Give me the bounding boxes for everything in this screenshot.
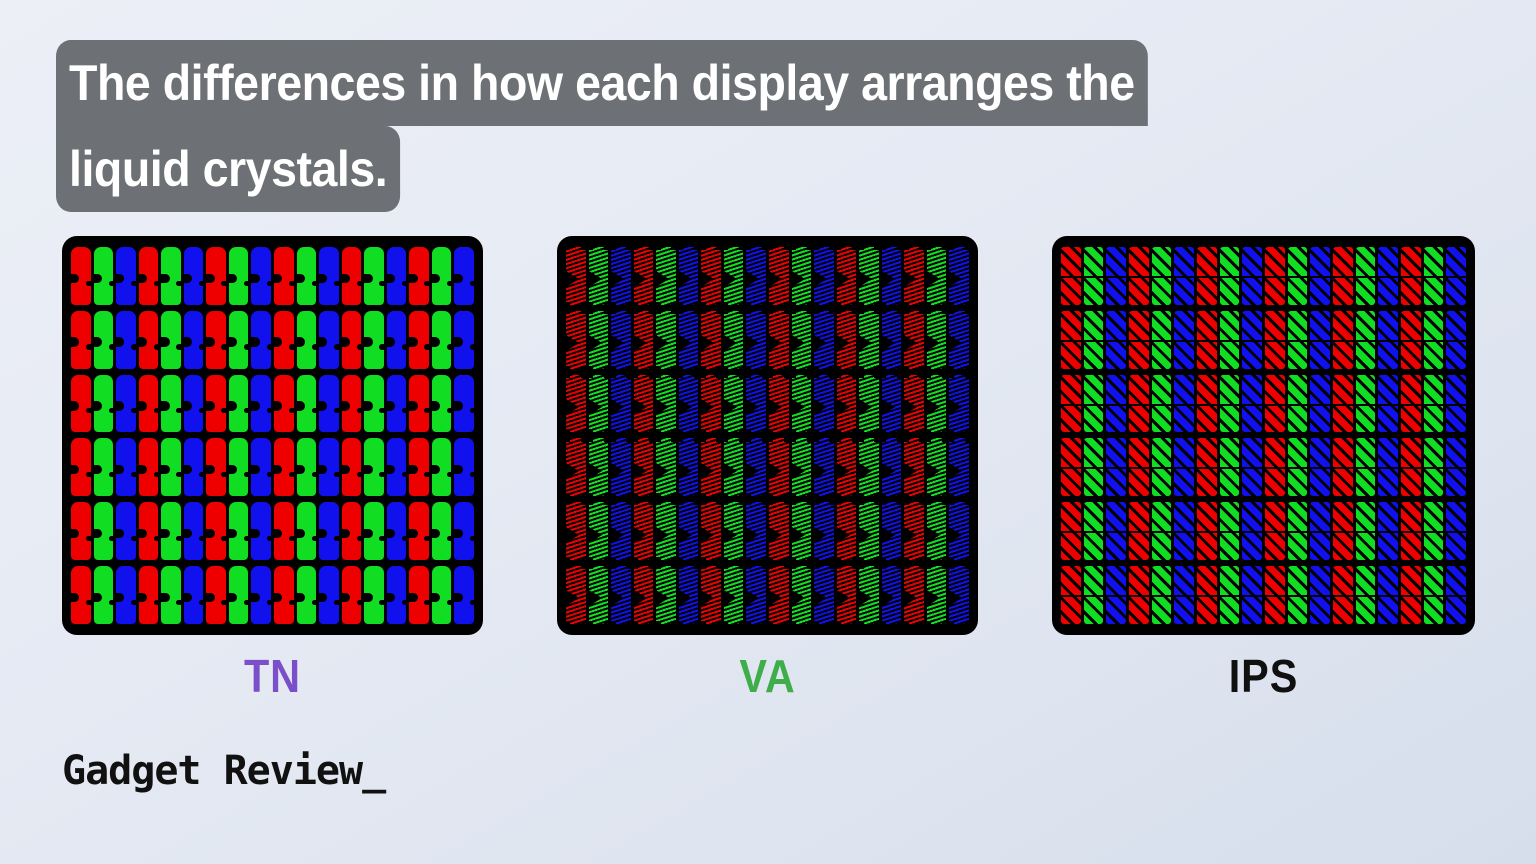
subpixel bbox=[882, 566, 902, 624]
subpixel bbox=[814, 438, 834, 496]
subpixel bbox=[1084, 566, 1104, 624]
subpixel bbox=[792, 375, 812, 433]
subpixel bbox=[927, 438, 947, 496]
subpixel bbox=[251, 375, 271, 433]
subpixel bbox=[274, 375, 294, 433]
subpixel bbox=[184, 502, 204, 560]
panel-label-va: VA bbox=[578, 649, 957, 703]
subpixel bbox=[116, 438, 136, 496]
subpixel bbox=[814, 502, 834, 560]
subpixel bbox=[387, 375, 407, 433]
subpixel bbox=[904, 502, 924, 560]
subpixel bbox=[251, 566, 271, 624]
subpixel bbox=[297, 566, 317, 624]
subpixel bbox=[251, 502, 271, 560]
subpixel bbox=[724, 375, 744, 433]
subpixel bbox=[364, 311, 384, 369]
panel-group-ips: IPS bbox=[1052, 236, 1475, 703]
subpixel bbox=[1106, 438, 1126, 496]
subpixel bbox=[297, 311, 317, 369]
subpixel bbox=[432, 247, 452, 305]
subpixel bbox=[342, 502, 362, 560]
subpixel bbox=[949, 566, 969, 624]
subpixel bbox=[1446, 438, 1466, 496]
subpixel bbox=[1220, 375, 1240, 433]
subpixel bbox=[1310, 438, 1330, 496]
subpixel bbox=[387, 566, 407, 624]
display-panel-tn bbox=[62, 236, 483, 635]
subpixel bbox=[724, 311, 744, 369]
subpixel bbox=[1288, 566, 1308, 624]
subpixel bbox=[792, 502, 812, 560]
subpixel bbox=[859, 311, 879, 369]
subpixel bbox=[1152, 311, 1172, 369]
subpixel bbox=[1356, 566, 1376, 624]
subpixel bbox=[297, 247, 317, 305]
subpixel bbox=[566, 311, 586, 369]
subpixel bbox=[701, 438, 721, 496]
pixel-grid-va bbox=[566, 247, 969, 624]
subpixel bbox=[1220, 247, 1240, 305]
subpixel bbox=[229, 247, 249, 305]
subpixel bbox=[1152, 247, 1172, 305]
subpixel bbox=[1265, 247, 1285, 305]
subpixel bbox=[454, 375, 474, 433]
subpixel bbox=[116, 247, 136, 305]
subpixel bbox=[1152, 375, 1172, 433]
subpixel bbox=[724, 566, 744, 624]
subpixel bbox=[1333, 566, 1353, 624]
subpixel bbox=[1446, 375, 1466, 433]
subpixel bbox=[274, 247, 294, 305]
subpixel bbox=[656, 375, 676, 433]
display-panel-va bbox=[557, 236, 978, 635]
subpixel bbox=[184, 247, 204, 305]
subpixel bbox=[1288, 311, 1308, 369]
subpixel bbox=[116, 566, 136, 624]
subpixel bbox=[1174, 566, 1194, 624]
subpixel bbox=[297, 375, 317, 433]
subpixel bbox=[342, 566, 362, 624]
subpixel bbox=[1265, 438, 1285, 496]
subpixel bbox=[1152, 566, 1172, 624]
subpixel bbox=[342, 375, 362, 433]
subpixel bbox=[724, 438, 744, 496]
subpixel bbox=[589, 311, 609, 369]
subpixel bbox=[454, 566, 474, 624]
subpixel bbox=[859, 502, 879, 560]
subpixel bbox=[1424, 502, 1444, 560]
subpixel bbox=[859, 247, 879, 305]
subpixel bbox=[184, 311, 204, 369]
subpixel bbox=[679, 375, 699, 433]
subpixel bbox=[409, 311, 429, 369]
subpixel bbox=[1333, 438, 1353, 496]
subpixel bbox=[792, 566, 812, 624]
subpixel bbox=[927, 311, 947, 369]
subpixel bbox=[566, 375, 586, 433]
subpixel bbox=[94, 311, 114, 369]
subpixel bbox=[837, 375, 857, 433]
subpixel bbox=[364, 438, 384, 496]
subpixel bbox=[251, 247, 271, 305]
subpixel bbox=[746, 438, 766, 496]
subpixel bbox=[949, 438, 969, 496]
subpixel bbox=[792, 247, 812, 305]
subpixel bbox=[611, 502, 631, 560]
subpixel bbox=[206, 438, 226, 496]
subpixel bbox=[1084, 311, 1104, 369]
subpixel bbox=[634, 375, 654, 433]
subpixel bbox=[1174, 438, 1194, 496]
subpixel bbox=[1310, 247, 1330, 305]
subpixel bbox=[1242, 502, 1262, 560]
subpixel bbox=[139, 438, 159, 496]
subpixel bbox=[634, 247, 654, 305]
subpixel bbox=[1220, 311, 1240, 369]
subpixel bbox=[319, 375, 339, 433]
subpixel bbox=[432, 502, 452, 560]
subpixel bbox=[1106, 566, 1126, 624]
subpixel bbox=[387, 311, 407, 369]
subpixel bbox=[1084, 502, 1104, 560]
subpixel bbox=[927, 566, 947, 624]
subpixel bbox=[927, 502, 947, 560]
subpixel bbox=[1401, 311, 1421, 369]
subpixel bbox=[1310, 375, 1330, 433]
subpixel bbox=[139, 247, 159, 305]
subpixel bbox=[1197, 438, 1217, 496]
subpixel bbox=[1265, 375, 1285, 433]
subpixel bbox=[274, 502, 294, 560]
subpixel bbox=[409, 247, 429, 305]
subpixel bbox=[1220, 438, 1240, 496]
subpixel bbox=[1197, 311, 1217, 369]
watermark-gadget-review: Gadget Review_ bbox=[62, 748, 385, 794]
subpixel bbox=[1265, 502, 1285, 560]
subpixel bbox=[454, 502, 474, 560]
subpixel bbox=[701, 375, 721, 433]
subpixel bbox=[319, 502, 339, 560]
subpixel bbox=[1084, 375, 1104, 433]
subpixel bbox=[161, 375, 181, 433]
subpixel bbox=[206, 247, 226, 305]
subpixel bbox=[1424, 311, 1444, 369]
subpixel bbox=[342, 438, 362, 496]
subpixel bbox=[1333, 247, 1353, 305]
subpixel bbox=[1129, 566, 1149, 624]
subpixel bbox=[387, 502, 407, 560]
subpixel bbox=[566, 438, 586, 496]
subpixel bbox=[1401, 566, 1421, 624]
subpixel bbox=[1446, 247, 1466, 305]
pixel-grid-ips bbox=[1061, 247, 1466, 624]
subpixel bbox=[71, 566, 91, 624]
subpixel bbox=[701, 311, 721, 369]
subpixel bbox=[769, 438, 789, 496]
subpixel bbox=[364, 502, 384, 560]
subpixel bbox=[769, 502, 789, 560]
subpixel bbox=[1061, 375, 1081, 433]
subpixel bbox=[1061, 247, 1081, 305]
subpixel bbox=[769, 566, 789, 624]
subpixel bbox=[1401, 247, 1421, 305]
subpixel bbox=[1378, 247, 1398, 305]
title-line-2: liquid crystals. bbox=[56, 126, 400, 212]
subpixel bbox=[1242, 247, 1262, 305]
panel-group-va: VA bbox=[557, 236, 978, 703]
subpixel bbox=[1084, 247, 1104, 305]
subpixel bbox=[904, 375, 924, 433]
subpixel bbox=[949, 311, 969, 369]
subpixel bbox=[71, 247, 91, 305]
subpixel bbox=[1106, 311, 1126, 369]
subpixel bbox=[746, 502, 766, 560]
subpixel bbox=[161, 247, 181, 305]
panel-group-tn: TN bbox=[62, 236, 483, 703]
subpixel bbox=[611, 247, 631, 305]
subpixel bbox=[1356, 247, 1376, 305]
subpixel bbox=[1401, 438, 1421, 496]
subpixel bbox=[184, 438, 204, 496]
subpixel bbox=[1106, 375, 1126, 433]
subpixel bbox=[71, 502, 91, 560]
subpixel bbox=[1424, 375, 1444, 433]
subpixel bbox=[206, 311, 226, 369]
subpixel bbox=[161, 502, 181, 560]
subpixel bbox=[634, 502, 654, 560]
subpixel bbox=[1197, 375, 1217, 433]
subpixel bbox=[656, 247, 676, 305]
subpixel bbox=[139, 375, 159, 433]
subpixel bbox=[1197, 502, 1217, 560]
subpixel bbox=[184, 566, 204, 624]
subpixel bbox=[206, 566, 226, 624]
subpixel bbox=[1310, 311, 1330, 369]
subpixel bbox=[949, 502, 969, 560]
subpixel bbox=[1129, 375, 1149, 433]
subpixel bbox=[566, 566, 586, 624]
subpixel bbox=[1356, 375, 1376, 433]
subpixel bbox=[229, 438, 249, 496]
subpixel bbox=[589, 438, 609, 496]
subpixel bbox=[679, 247, 699, 305]
subpixel bbox=[1061, 438, 1081, 496]
subpixel bbox=[634, 311, 654, 369]
subpixel bbox=[1174, 311, 1194, 369]
subpixel bbox=[297, 438, 317, 496]
subpixel bbox=[746, 566, 766, 624]
subpixel bbox=[1129, 502, 1149, 560]
subpixel bbox=[229, 502, 249, 560]
subpixel bbox=[769, 247, 789, 305]
subpixel bbox=[566, 247, 586, 305]
subpixel bbox=[1174, 247, 1194, 305]
pixel-grid-tn bbox=[71, 247, 474, 624]
subpixel bbox=[746, 375, 766, 433]
subpixel bbox=[229, 311, 249, 369]
subpixel bbox=[274, 566, 294, 624]
subpixel bbox=[409, 502, 429, 560]
subpixel bbox=[94, 502, 114, 560]
subpixel bbox=[656, 502, 676, 560]
subpixel bbox=[679, 438, 699, 496]
subpixel bbox=[94, 566, 114, 624]
subpixel bbox=[1446, 566, 1466, 624]
subpixel bbox=[139, 566, 159, 624]
subpixel bbox=[1378, 438, 1398, 496]
panel-comparison-row: TN VA IPS bbox=[0, 236, 1536, 636]
subpixel bbox=[859, 566, 879, 624]
subpixel bbox=[454, 311, 474, 369]
subpixel bbox=[71, 311, 91, 369]
subpixel bbox=[1356, 311, 1376, 369]
subpixel bbox=[837, 311, 857, 369]
subpixel bbox=[454, 438, 474, 496]
subpixel bbox=[679, 566, 699, 624]
subpixel bbox=[432, 438, 452, 496]
subpixel bbox=[792, 311, 812, 369]
subpixel bbox=[206, 502, 226, 560]
subpixel bbox=[1220, 566, 1240, 624]
subpixel bbox=[611, 438, 631, 496]
subpixel bbox=[319, 438, 339, 496]
subpixel bbox=[656, 566, 676, 624]
subpixel bbox=[139, 502, 159, 560]
subpixel bbox=[1174, 375, 1194, 433]
subpixel bbox=[319, 311, 339, 369]
subpixel bbox=[1129, 438, 1149, 496]
subpixel bbox=[229, 375, 249, 433]
subpixel bbox=[589, 247, 609, 305]
subpixel bbox=[409, 438, 429, 496]
subpixel bbox=[1401, 502, 1421, 560]
subpixel bbox=[1106, 502, 1126, 560]
subpixel bbox=[1061, 311, 1081, 369]
subpixel bbox=[814, 375, 834, 433]
subpixel bbox=[837, 247, 857, 305]
subpixel bbox=[71, 375, 91, 433]
subpixel bbox=[1197, 566, 1217, 624]
subpixel bbox=[634, 566, 654, 624]
subpixel bbox=[432, 375, 452, 433]
subpixel bbox=[837, 502, 857, 560]
subpixel bbox=[882, 247, 902, 305]
subpixel bbox=[611, 375, 631, 433]
subpixel bbox=[724, 247, 744, 305]
subpixel bbox=[94, 375, 114, 433]
subpixel bbox=[161, 311, 181, 369]
subpixel bbox=[746, 311, 766, 369]
subpixel bbox=[1378, 566, 1398, 624]
subpixel bbox=[837, 438, 857, 496]
subpixel bbox=[1424, 566, 1444, 624]
subpixel bbox=[274, 311, 294, 369]
subpixel bbox=[1106, 247, 1126, 305]
subpixel bbox=[139, 311, 159, 369]
subpixel bbox=[116, 311, 136, 369]
subpixel bbox=[161, 438, 181, 496]
subpixel bbox=[634, 438, 654, 496]
subpixel bbox=[251, 438, 271, 496]
subpixel bbox=[904, 247, 924, 305]
subpixel bbox=[792, 438, 812, 496]
subpixel bbox=[364, 247, 384, 305]
subpixel bbox=[297, 502, 317, 560]
subpixel bbox=[859, 438, 879, 496]
subpixel bbox=[611, 311, 631, 369]
subpixel bbox=[904, 566, 924, 624]
subpixel bbox=[1242, 438, 1262, 496]
subpixel bbox=[1265, 311, 1285, 369]
subpixel bbox=[1378, 311, 1398, 369]
subpixel bbox=[904, 311, 924, 369]
subpixel bbox=[387, 247, 407, 305]
subpixel bbox=[432, 311, 452, 369]
subpixel bbox=[1242, 375, 1262, 433]
subpixel bbox=[566, 502, 586, 560]
subpixel bbox=[701, 566, 721, 624]
subpixel bbox=[1310, 502, 1330, 560]
subpixel bbox=[1333, 502, 1353, 560]
subpixel bbox=[71, 438, 91, 496]
subpixel bbox=[116, 502, 136, 560]
subpixel bbox=[1152, 502, 1172, 560]
subpixel bbox=[1174, 502, 1194, 560]
subpixel bbox=[432, 566, 452, 624]
display-panel-ips bbox=[1052, 236, 1475, 635]
subpixel bbox=[1378, 375, 1398, 433]
subpixel bbox=[387, 438, 407, 496]
subpixel bbox=[882, 311, 902, 369]
panel-label-ips: IPS bbox=[1073, 649, 1454, 703]
subpixel bbox=[949, 375, 969, 433]
subpixel bbox=[1242, 311, 1262, 369]
subpixel bbox=[1220, 502, 1240, 560]
title-line-1: The differences in how each display arra… bbox=[56, 40, 1148, 126]
subpixel bbox=[342, 247, 362, 305]
subpixel bbox=[1378, 502, 1398, 560]
subpixel bbox=[814, 566, 834, 624]
subpixel bbox=[837, 566, 857, 624]
subpixel bbox=[1242, 566, 1262, 624]
subpixel bbox=[319, 566, 339, 624]
subpixel bbox=[94, 247, 114, 305]
subpixel bbox=[454, 247, 474, 305]
subpixel bbox=[161, 566, 181, 624]
subpixel bbox=[814, 247, 834, 305]
subpixel bbox=[1288, 438, 1308, 496]
subpixel bbox=[724, 502, 744, 560]
subpixel bbox=[206, 375, 226, 433]
subpixel bbox=[589, 566, 609, 624]
subpixel bbox=[409, 566, 429, 624]
subpixel bbox=[679, 502, 699, 560]
subpixel bbox=[927, 247, 947, 305]
subpixel bbox=[701, 247, 721, 305]
subpixel bbox=[274, 438, 294, 496]
subpixel bbox=[882, 438, 902, 496]
subpixel bbox=[1265, 566, 1285, 624]
subpixel bbox=[364, 566, 384, 624]
subpixel bbox=[1333, 311, 1353, 369]
subpixel bbox=[1288, 375, 1308, 433]
subpixel bbox=[882, 375, 902, 433]
subpixel bbox=[1288, 502, 1308, 560]
subpixel bbox=[589, 502, 609, 560]
subpixel bbox=[1084, 438, 1104, 496]
subpixel bbox=[904, 438, 924, 496]
